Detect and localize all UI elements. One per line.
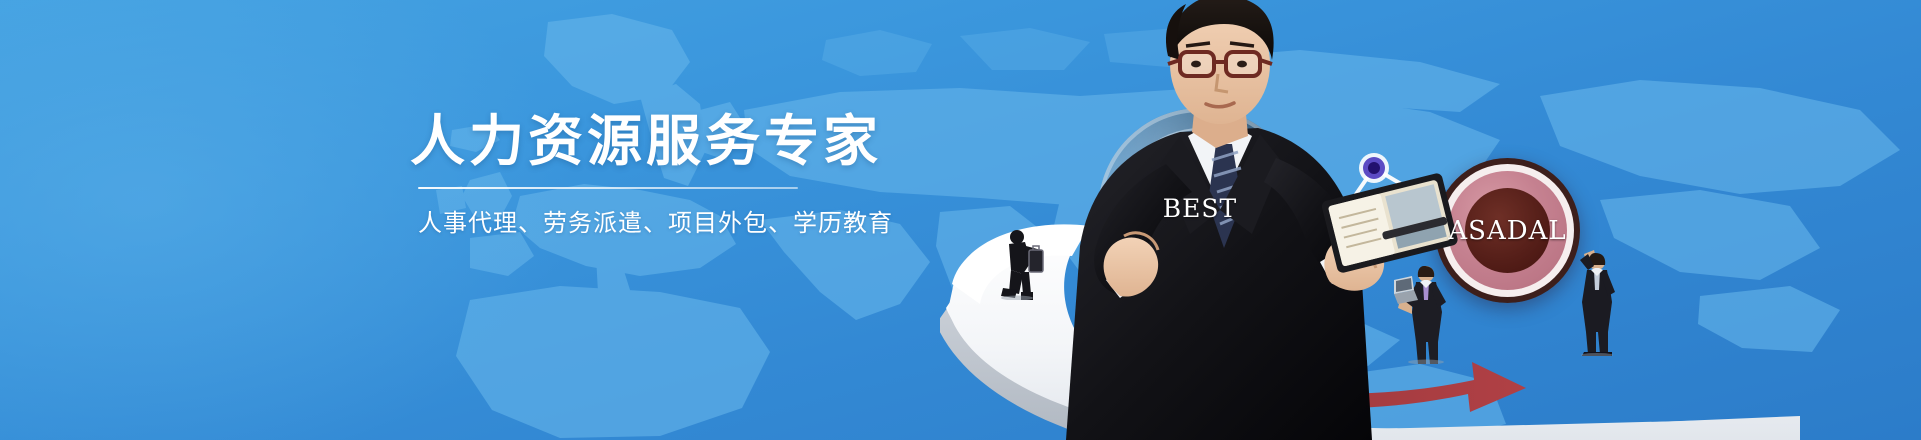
mini-figure-lookout xyxy=(1570,240,1620,356)
banner-copy: 人力资源服务专家 人事代理、劳务派遣、项目外包、学历教育 xyxy=(410,112,810,238)
page-title: 人力资源服务专家 xyxy=(410,112,810,171)
badge-best-label: BEST xyxy=(1163,194,1237,223)
hero-banner: 人力资源服务专家 人事代理、劳务派遣、项目外包、学历教育 xyxy=(0,0,1921,440)
mini-figure-briefcase xyxy=(995,228,1051,300)
title-divider xyxy=(418,187,798,189)
badge-asadal-label: ASADAL xyxy=(1448,216,1566,246)
banner-subtitle: 人事代理、劳务派遣、项目外包、学历教育 xyxy=(418,203,810,238)
mini-figure-laptop xyxy=(1392,258,1454,364)
